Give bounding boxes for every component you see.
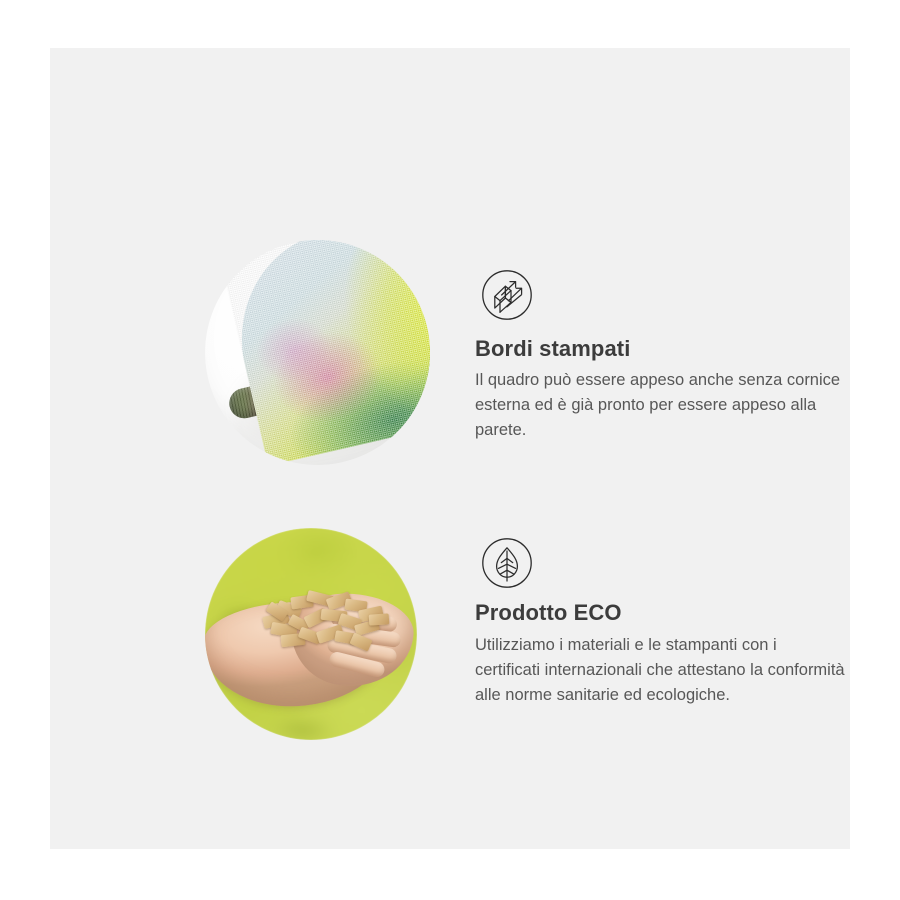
wood-chip	[349, 632, 372, 651]
printed-edges-icon	[481, 269, 533, 321]
leaf-icon	[481, 537, 533, 589]
printed-edges-photo	[205, 240, 430, 465]
eco-product-photo	[205, 528, 417, 740]
feature-title-printed-edges: Bordi stampati	[475, 336, 630, 362]
content-panel: Bordi stampati Il quadro può essere appe…	[50, 48, 850, 849]
wood-chips-pile	[261, 588, 389, 652]
wood-chip	[369, 613, 390, 625]
feature-title-eco-product: Prodotto ECO	[475, 600, 622, 626]
feature-description-eco-product: Utilizziamo i materiali e le stampanti c…	[475, 633, 845, 708]
product-feature-infographic: Bordi stampati Il quadro può essere appe…	[0, 0, 900, 900]
feature-description-printed-edges: Il quadro può essere appeso anche senza …	[475, 368, 845, 443]
